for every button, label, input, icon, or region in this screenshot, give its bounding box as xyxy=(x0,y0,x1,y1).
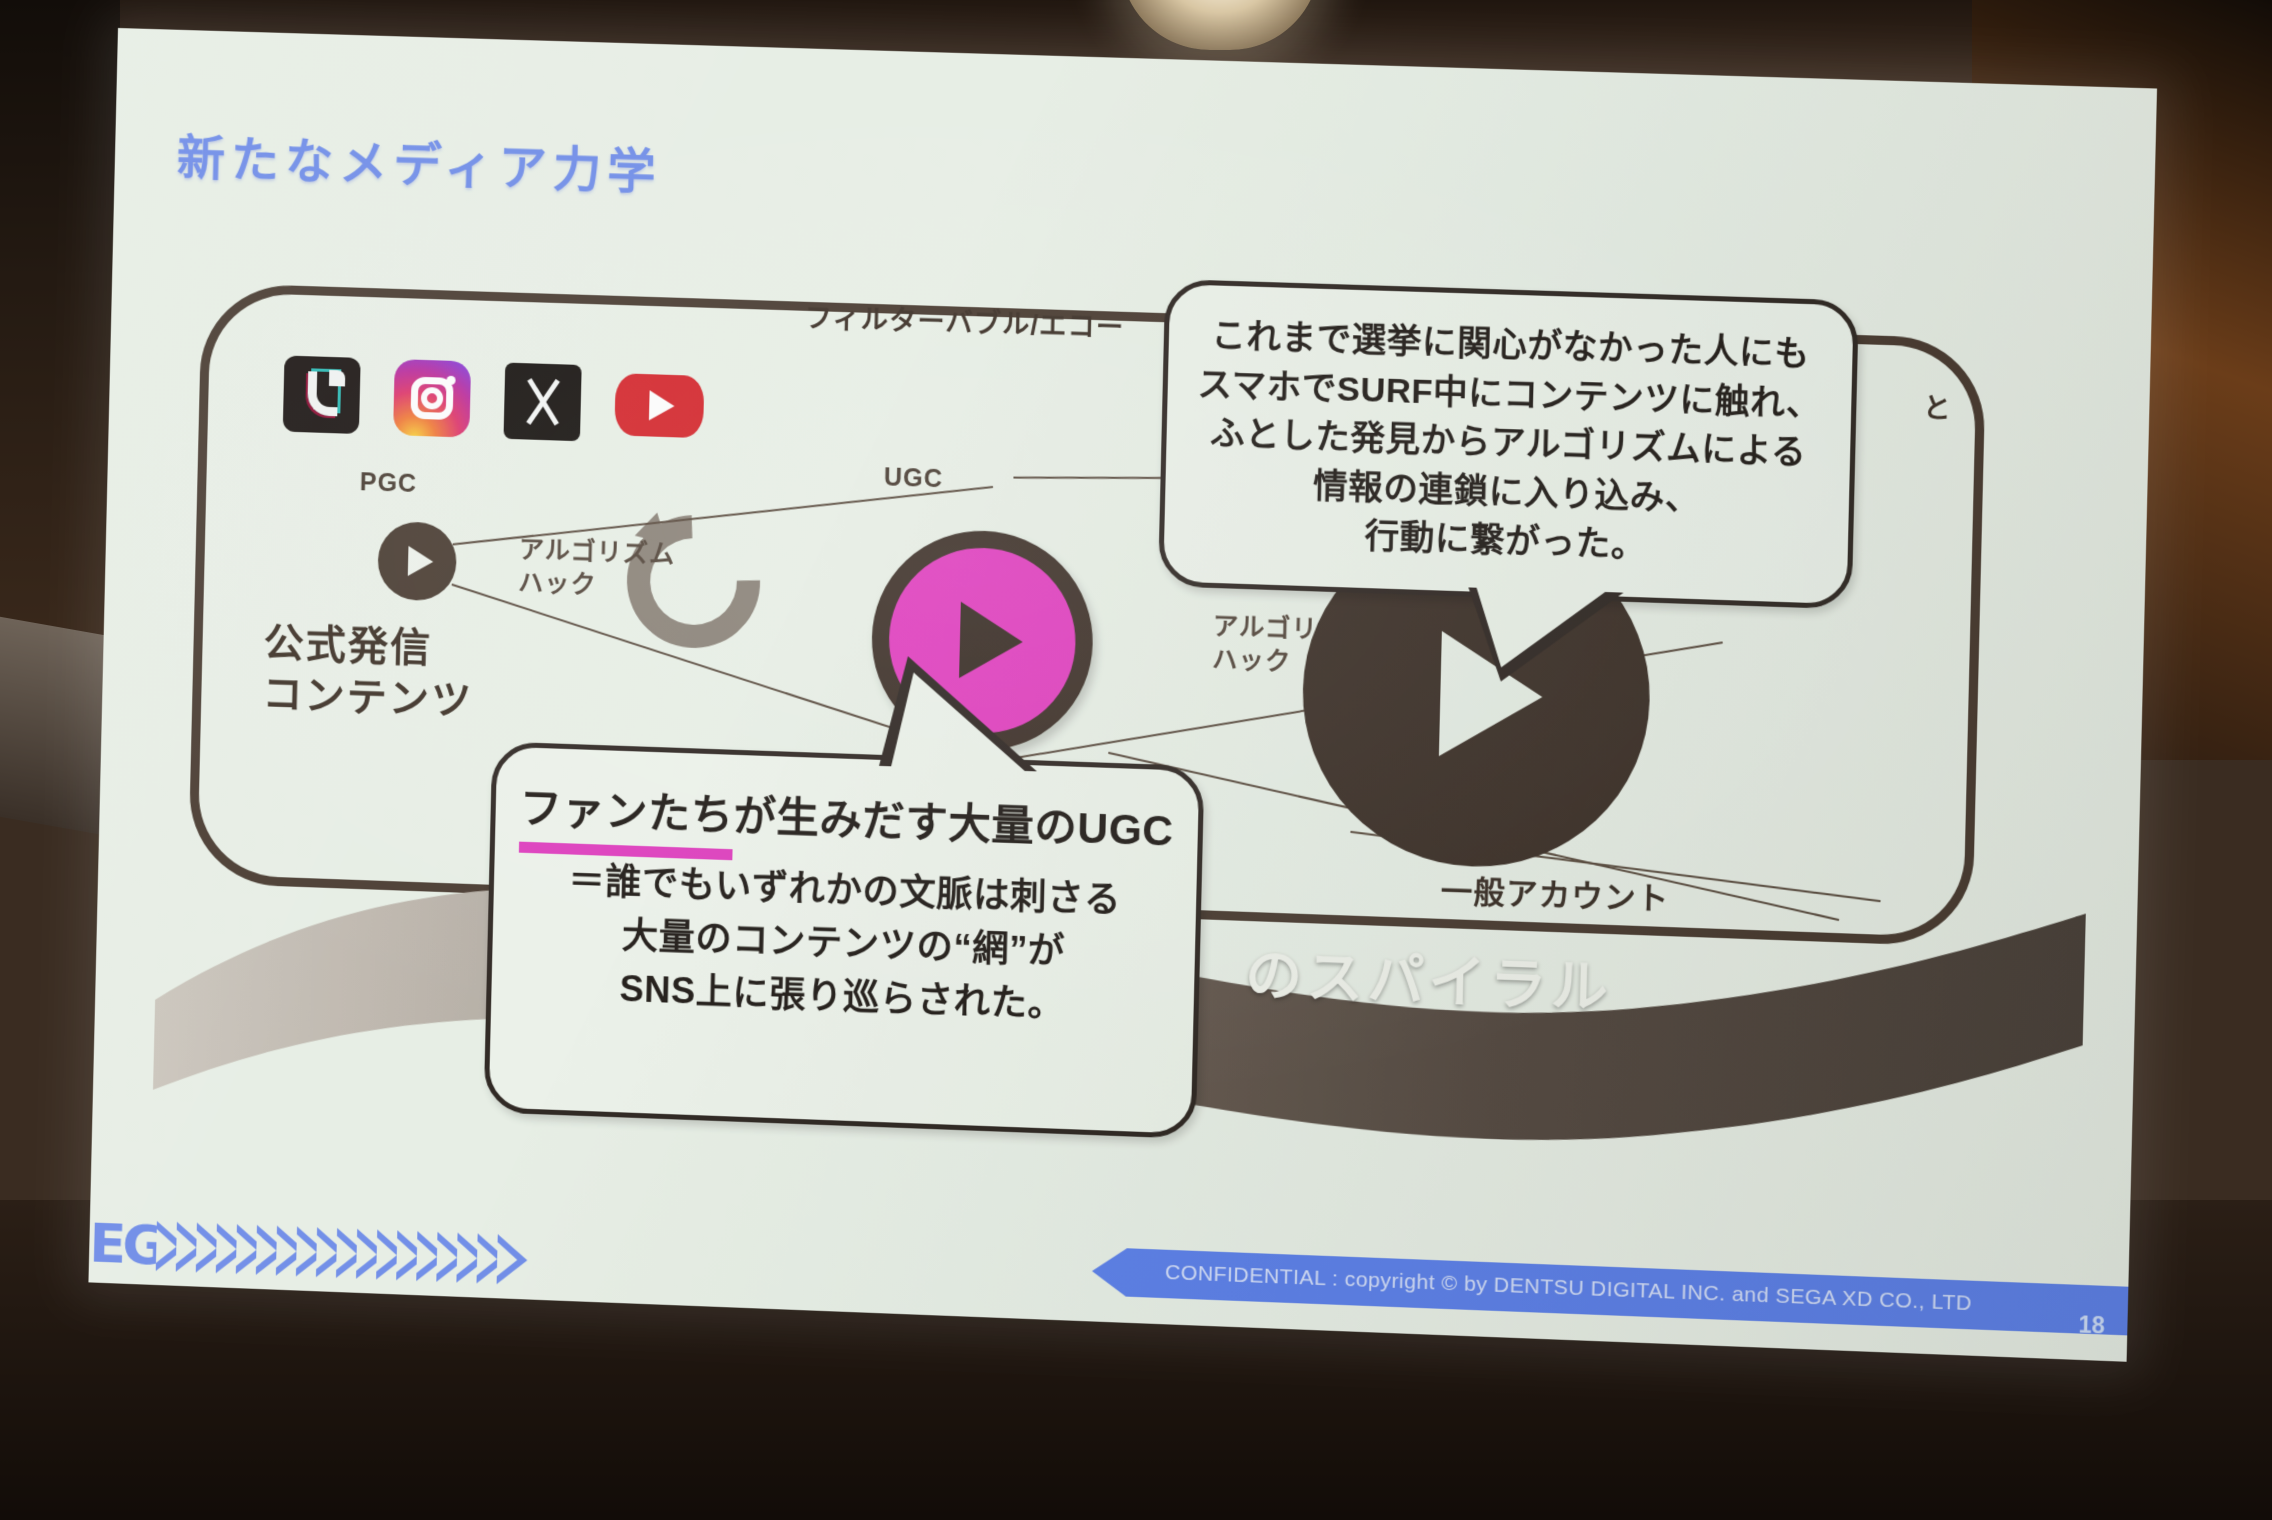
official-content-line2: コンテンツ xyxy=(262,669,474,728)
algorithm-hack-label-1: アルゴリズム ハック xyxy=(518,534,676,604)
ugc-label: UGC xyxy=(883,463,943,494)
algorithm-hack-1-line1: アルゴリズム xyxy=(519,534,676,572)
instagram-icon xyxy=(393,359,471,438)
algorithm-hack-1-line2: ハック xyxy=(518,566,675,604)
projection-room: 新たなメディア力学 xyxy=(0,0,2272,1520)
ribbon-label: のスパイラル xyxy=(1244,929,1613,1024)
callout-bubble-top-text: これまで選挙に関心がなかった人にも スマホでSURF中にコンテンツに触れ、 ふと… xyxy=(1186,311,1830,577)
callout-bubble-bottom-tail-inner xyxy=(891,672,1027,771)
callout-bubble-bottom: ファンたちが生みだす大量のUGC ＝誰でもいずれかの文脈は刺さる 大量のコンテン… xyxy=(484,741,1205,1139)
page-number: 18 xyxy=(2078,1311,2105,1339)
official-content-line1: 公式発信 xyxy=(263,618,475,676)
room-wall-left xyxy=(0,0,120,700)
tiktok-icon xyxy=(283,355,361,434)
youtube-icon xyxy=(614,373,704,438)
page-title: 新たなメディア力学 xyxy=(176,118,662,203)
partial-hidden-label: と xyxy=(1923,386,1952,426)
chevron-icon-18 xyxy=(497,1234,528,1285)
pgc-label: PGC xyxy=(359,468,417,499)
eg-brand-logo: EG xyxy=(89,1211,529,1291)
callout-bubble-top-tail-inner xyxy=(1475,588,1605,671)
brand-text: EG xyxy=(89,1211,164,1277)
x-icon xyxy=(503,363,581,442)
official-content-label: 公式発信 コンテンツ xyxy=(262,618,475,728)
callout-bubble-top: これまで選挙に関心がなかった人にも スマホでSURF中にコンテンツに触れ、 ふと… xyxy=(1158,279,1859,610)
presentation-slide: 新たなメディア力学 xyxy=(88,28,2157,1362)
callout-bubble-bottom-text: ファンたちが生みだす大量のUGC ＝誰でもいずれかの文脈は刺さる 大量のコンテン… xyxy=(511,777,1178,1035)
bubble-bottom-highlight: ファンたち xyxy=(519,777,735,860)
projected-slide-wrapper: 新たなメディア力学 xyxy=(88,28,2157,1362)
bubble-bottom-line-1-rest: が生みだす大量のUGC xyxy=(733,792,1174,855)
social-platform-icons xyxy=(283,355,705,445)
